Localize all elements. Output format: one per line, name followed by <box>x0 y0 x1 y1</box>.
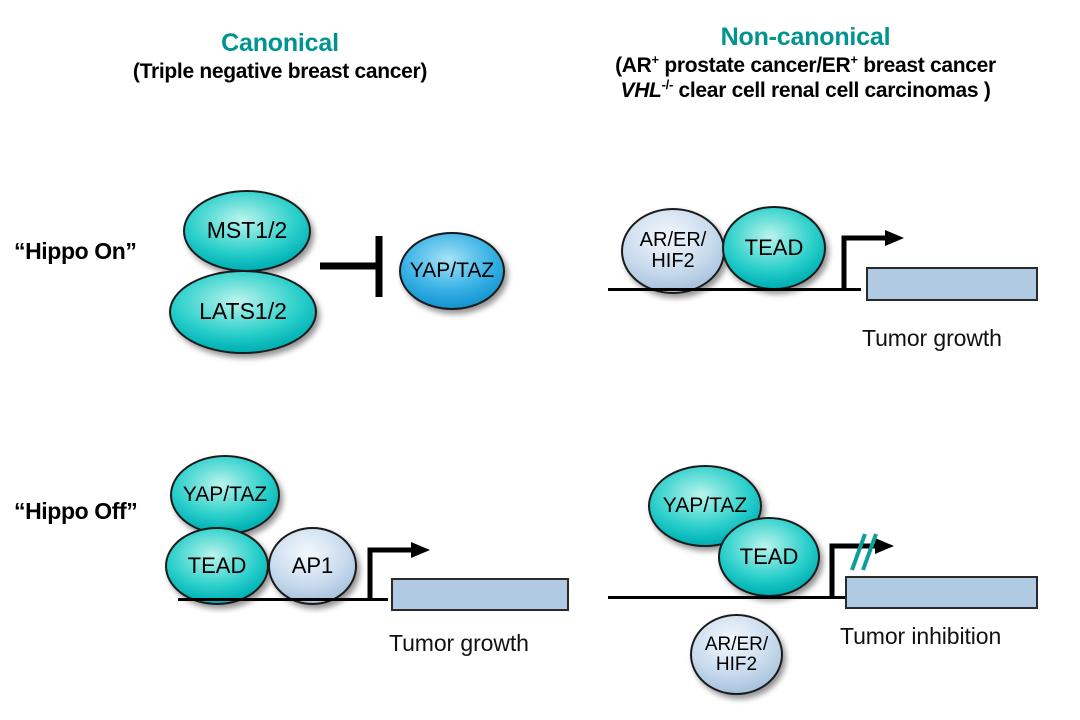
noncanonical-column-heading: Non-canonical (AR+ prostate cancer/ER+ b… <box>548 22 1063 104</box>
node-ar-er-hif2-top-label-line1: AR/ER/ <box>640 230 707 251</box>
node-tead-bottom-left[interactable]: TEAD <box>165 527 269 605</box>
dna-line-top-right <box>608 288 861 291</box>
inhibition-t-bar-icon <box>318 228 400 304</box>
node-lats1-2-label: LATS1/2 <box>199 300 287 324</box>
canonical-column-heading: Canonical (Triple negative breast cancer… <box>45 28 515 84</box>
nc-sub1-sup-er: + <box>850 52 857 67</box>
node-lats1-2[interactable]: LATS1/2 <box>169 270 317 354</box>
node-ar-er-hif2-top-label-line2: HIF2 <box>651 251 694 272</box>
node-mst1-2[interactable]: MST1/2 <box>183 190 311 272</box>
node-yap-taz-hippo-on[interactable]: YAP/TAZ <box>399 232 505 310</box>
node-ar-er-hif2-bottom[interactable]: AR/ER/ HIF2 <box>690 614 783 695</box>
node-yap-taz-bottom-left-label: YAP/TAZ <box>183 484 267 506</box>
noncanonical-heading-subtitle-line1: (AR+ prostate cancer/ER+ breast cancer <box>548 53 1063 79</box>
nc-sub1-sup-ar: + <box>652 52 659 67</box>
nc-sub2-sup: -/- <box>662 77 673 92</box>
gene-box-top-right <box>866 267 1038 301</box>
noncanonical-heading-subtitle-line2: VHL-/- clear cell renal cell carcinomas … <box>548 78 1063 104</box>
row-label-hippo-on: “Hippo On” <box>14 238 136 265</box>
nc-sub2-rest: clear cell renal cell carcinomas ) <box>673 79 991 102</box>
node-tead-bottom-right-label: TEAD <box>740 546 799 569</box>
node-ap1-label: AP1 <box>292 555 334 578</box>
nc-sub2-gene: VHL <box>620 79 661 102</box>
figure-canvas: Canonical (Triple negative breast cancer… <box>0 0 1080 720</box>
node-yap-taz-bottom-right-label: YAP/TAZ <box>663 495 747 517</box>
node-yap-taz-bottom-left[interactable]: YAP/TAZ <box>170 455 280 535</box>
canonical-heading-subtitle: (Triple negative breast cancer) <box>45 59 515 85</box>
node-tead-top-right[interactable]: TEAD <box>722 206 826 290</box>
node-mst1-2-label: MST1/2 <box>207 219 288 243</box>
caption-tumor-growth-top-right: Tumor growth <box>862 325 1002 352</box>
caption-tumor-inhibition-bottom-right: Tumor inhibition <box>840 623 1001 650</box>
node-tead-bottom-right[interactable]: TEAD <box>718 517 820 597</box>
nc-sub1-a: (AR <box>615 54 651 77</box>
node-ap1[interactable]: AP1 <box>268 527 357 605</box>
node-ar-er-hif2-top[interactable]: AR/ER/ HIF2 <box>621 208 725 294</box>
node-ar-er-hif2-bottom-label-line2: HIF2 <box>716 655 757 675</box>
node-yap-taz-hippo-on-label: YAP/TAZ <box>410 260 494 282</box>
nc-sub1-c: breast cancer <box>858 54 996 77</box>
node-ar-er-hif2-bottom-label-line1: AR/ER/ <box>705 635 768 655</box>
gene-box-bottom-left <box>391 578 569 611</box>
gene-box-bottom-right <box>845 576 1038 609</box>
node-tead-bottom-left-label: TEAD <box>188 555 247 578</box>
row-label-hippo-off: “Hippo Off” <box>14 498 137 525</box>
double-slash-break-icon <box>852 534 876 570</box>
dna-line-bottom-left <box>178 598 388 601</box>
noncanonical-heading-kind: Non-canonical <box>548 22 1063 53</box>
canonical-heading-kind: Canonical <box>45 28 515 59</box>
nc-sub1-b: prostate cancer/ER <box>659 54 851 77</box>
node-tead-top-right-label: TEAD <box>745 237 804 260</box>
dna-line-bottom-right <box>608 596 849 599</box>
caption-tumor-growth-bottom-left: Tumor growth <box>389 630 529 657</box>
